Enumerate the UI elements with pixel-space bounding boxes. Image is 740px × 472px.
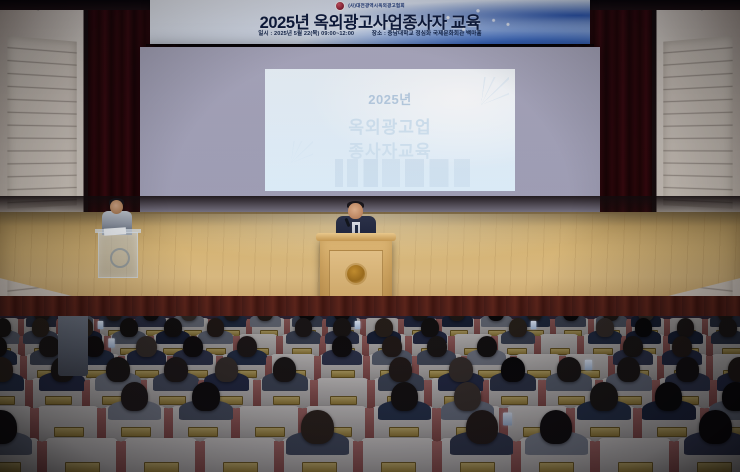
attendee-head [719,318,737,337]
attendee-head [449,357,472,382]
podium-crest-icon [347,265,365,283]
attendee-head [677,318,695,337]
attendee-head [39,336,59,357]
seat-number-plate [45,396,71,405]
attendee-head [466,410,498,444]
banner-datetime: 일시 : 2025년 5월 22(목) 09:00~12:00 [258,31,354,37]
attendee-head [183,336,203,357]
right-wall-slats [663,36,733,209]
slide-cityscape-graphic [335,159,470,187]
speaker-head [348,203,363,219]
banner-subtitle: 일시 : 2025년 5월 22(목) 09:00~12:00 장소 : 충남대… [150,29,590,37]
seat-number-plate [539,462,575,472]
attendee-head [136,336,156,357]
attendee-head [509,318,527,337]
attendee-head [375,318,393,337]
attendee-phone-screen [354,321,360,329]
attendee-head [477,336,497,357]
attendee-phone-screen [108,338,115,347]
attendee-head [295,318,313,337]
podium-front-panel [329,250,383,298]
attendee-head [389,357,412,382]
seat-number-plate [0,396,15,405]
seat-number-plate [0,462,21,472]
audience-seating-area [0,316,740,472]
attendee-head [120,318,138,337]
podium-top-surface [316,233,396,241]
attendee-head [207,318,225,337]
attendee-head [540,410,572,444]
attendee-head [164,357,187,382]
attendee-head [32,318,50,337]
side-presenter-head [110,200,123,214]
attendee-head [333,318,351,337]
attendee-head [557,357,580,382]
slide-line-1: 옥외광고업 [265,113,515,138]
attendee-head [655,382,682,411]
seat-number-plate [330,396,356,405]
seat-number-plate [188,427,219,437]
attendee-head [427,336,447,357]
projected-slide: 2025년 옥외광고업 종사자교육 [265,69,515,191]
attendee-phone-screen [585,359,592,370]
lectern-crest-icon [110,248,130,268]
attendee-head [501,357,524,382]
seat-number-plate [121,427,152,437]
attendee-head [273,357,296,382]
attendee-head [121,382,148,411]
attendee-head [635,318,653,337]
seat-number-plate [618,462,654,472]
auditorium-seat [361,438,434,472]
seat-number-plate [65,462,101,472]
projection-screen: 2025년 옥외광고업 종사자교육 [140,47,600,212]
seat-number-plate [54,427,85,437]
attendee-head [421,318,439,337]
attendee-head [391,382,418,411]
seat-number-plate [302,462,338,472]
seat-number-plate [389,427,420,437]
event-banner: (사)대전광역시옥외광고협회 2025년 옥외광고사업종사자 교육 일시 : 2… [150,0,590,44]
auditorium-seat [203,438,276,472]
auditorium-seat [45,438,118,472]
auditorium-seat [598,438,671,472]
seat-number-plate [223,462,259,472]
banner-venue: 장소 : 충남대학교 정심화 국제문화회관 백마홀 [372,31,482,37]
attendee-head [332,336,352,357]
seat-number-plate [501,396,527,405]
side-lectern [98,232,138,278]
attendee-head [164,318,182,337]
attendee-head [106,357,129,382]
attendee-phone-screen [97,321,103,329]
attendee-head [672,336,692,357]
attendee-head [454,382,481,411]
slide-year: 2025년 [265,89,515,108]
attendee-head [215,357,238,382]
attendee-head [237,336,257,357]
attendee-head [722,382,740,411]
standing-photographer [58,316,88,376]
left-wall-slats [7,36,77,209]
auditorium-photo: (사)대전광역시옥외광고협회 2025년 옥외광고사업종사자 교육 일시 : 2… [0,0,740,472]
seat-number-plate [273,396,299,405]
seat-number-plate [144,462,180,472]
attendee-head [623,336,643,357]
seat-number-plate [590,427,621,437]
seat-number-plate [657,427,688,437]
attendee-phone-screen [503,413,512,426]
auditorium-seat [124,438,197,472]
seat-number-plate [697,462,733,472]
attendee-head [699,410,731,444]
seat-number-plate [460,462,496,472]
attendee-head [590,382,617,411]
attendee-head [382,336,402,357]
attendee-head [728,357,740,382]
attendee-head [676,357,699,382]
attendee-head [192,382,219,411]
attendee-head [596,318,614,337]
seat-number-plate [255,427,286,437]
attendee-head [617,357,640,382]
attendee-head [301,410,333,444]
attendee-phone-screen [530,321,536,329]
seat-number-plate [381,462,417,472]
